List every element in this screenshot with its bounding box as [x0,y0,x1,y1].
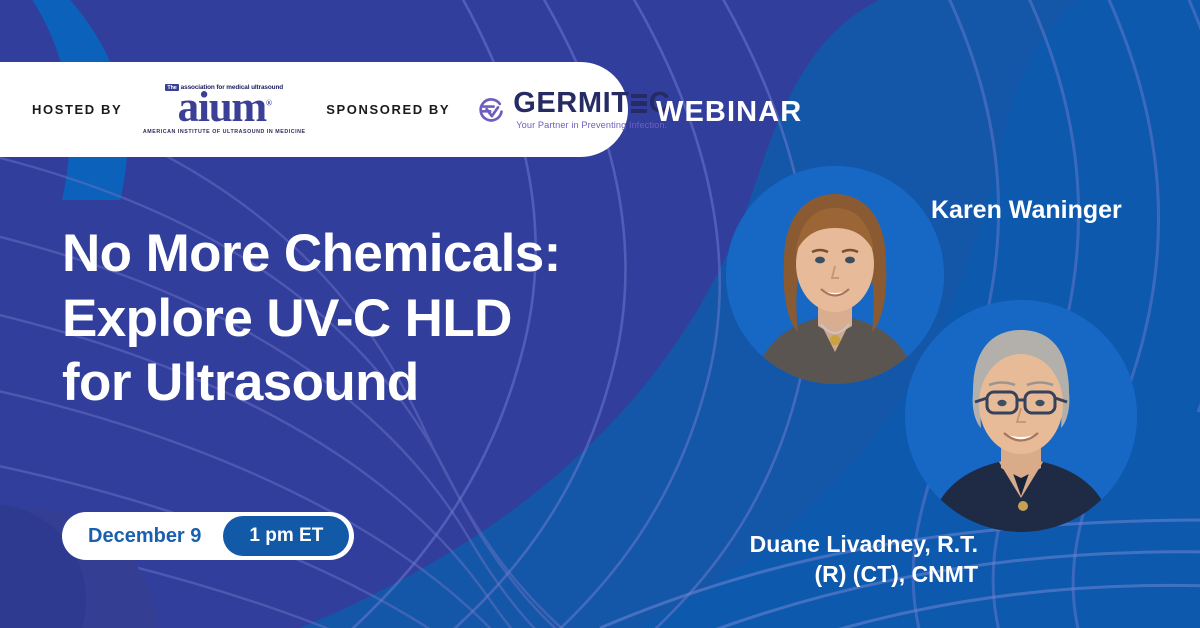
aium-logo: The association for medical ultrasound a… [148,84,300,134]
date-time-pill[interactable]: December 9 1 pm ET [62,512,354,560]
speaker-photo-karen-waninger [726,166,944,384]
hosted-by-label: HOSTED BY [32,102,122,117]
germitec-wordmark: GERMIT C [513,89,670,118]
germitec-logo: GERMIT C Your Partner in Preventing Infe… [476,89,670,130]
webinar-promo-banner: HOSTED BY The association for medical ul… [0,0,1200,628]
aium-wordmark-text: aium [178,84,266,131]
sponsored-by-label: SPONSORED BY [326,102,450,117]
germitec-e-glyph-icon [631,94,647,114]
germitec-tagline: Your Partner in Preventing Infection. [513,120,670,130]
sponsor-header-bar: HOSTED BY The association for medical ul… [0,62,628,157]
avatar [905,300,1137,532]
headline-line-2: Explore UV-C HLD [62,287,561,352]
germitec-wordmark-part1: GERMIT [513,89,629,118]
headline-line-1: No More Chemicals: [62,222,561,287]
headline-line-3: for Ultrasound [62,351,561,416]
aium-wordmark: aium® [178,90,271,127]
aium-registered-icon: ® [266,99,271,108]
page-title: No More Chemicals: Explore UV-C HLD for … [62,222,561,416]
webinar-date: December 9 [88,525,201,548]
speaker-name-line-1: Duane Livadney, R.T. [750,529,978,559]
germitec-wave-circle-icon [476,96,506,124]
webinar-label: WEBINAR [656,96,802,129]
avatar [726,166,944,384]
speaker-name-karen-waninger: Karen Waninger [931,196,1122,225]
speaker-name-duane-livadney: Duane Livadney, R.T. (R) (CT), CNMT [750,529,978,590]
germitec-text-block: GERMIT C Your Partner in Preventing Infe… [513,89,670,130]
speaker-photo-duane-livadney [905,300,1137,532]
speaker-name-line-2: (R) (CT), CNMT [750,559,978,589]
webinar-time: 1 pm ET [223,516,349,556]
